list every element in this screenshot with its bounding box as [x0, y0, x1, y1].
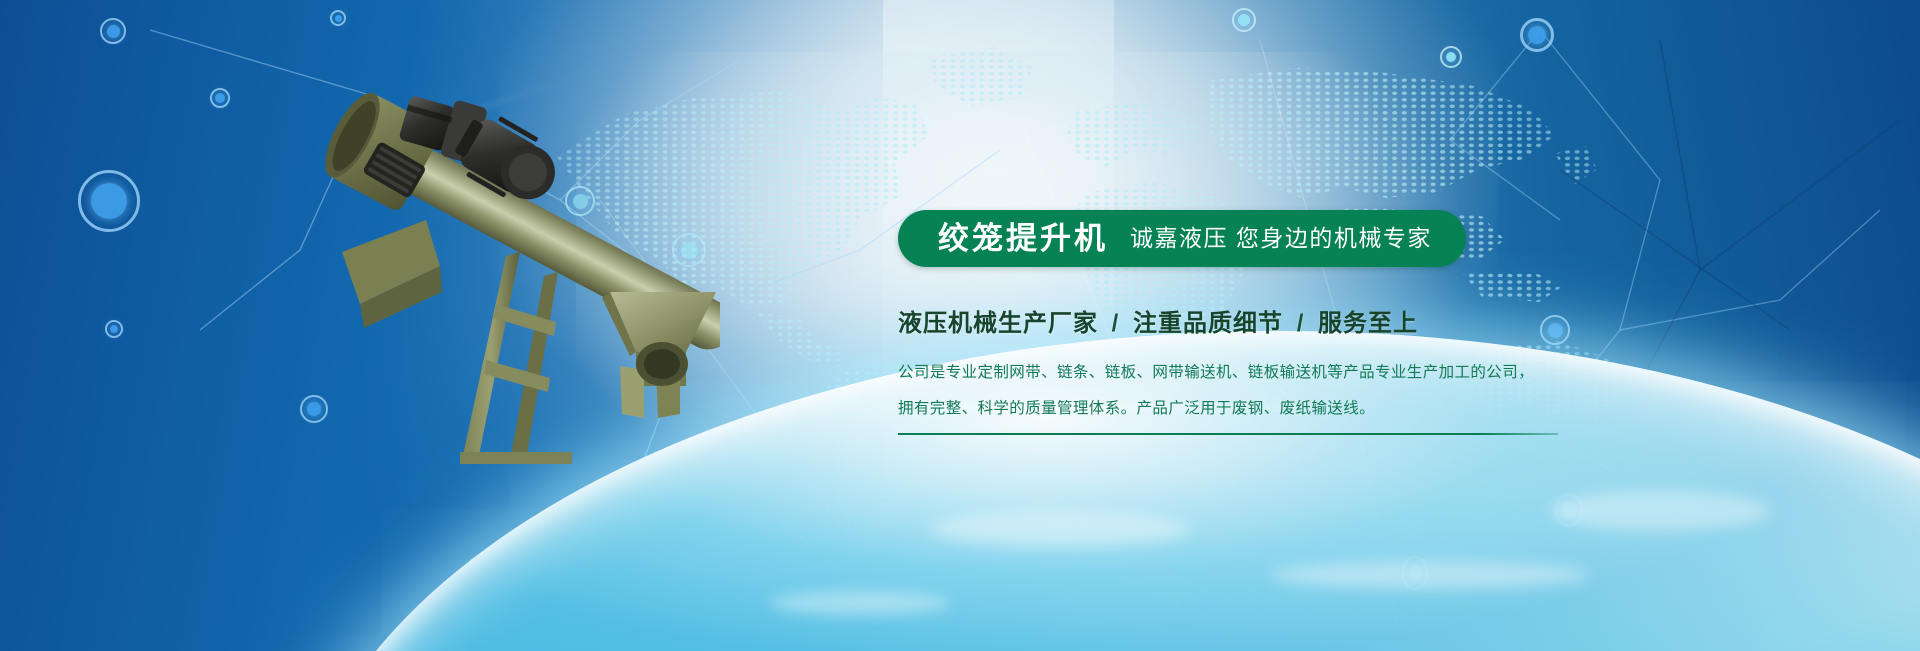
node-dot-3 [78, 170, 140, 232]
company-description: 公司是专业定制网带、链条、链板、网带输送机、链板输送机等产品专业生产加工的公司，… [898, 360, 1598, 421]
tagline-separator-2: / [1291, 310, 1311, 337]
node-dot-4 [105, 320, 123, 338]
tagline-separator-1: / [1106, 310, 1126, 337]
node-dot-1 [100, 18, 126, 44]
description-line-2: 拥有完整、科学的质量管理体系。产品广泛用于废钢、废纸输送线。 [898, 396, 1598, 422]
banner-content: 绞笼提升机 诚嘉液压 您身边的机械专家 液压机械生产厂家 / 注重品质细节 / … [898, 210, 1598, 435]
description-line-1: 公司是专业定制网带、链条、链板、网带输送机、链板输送机等产品专业生产加工的公司， [898, 360, 1598, 386]
product-title-pill: 绞笼提升机 诚嘉液压 您身边的机械专家 [898, 210, 1466, 267]
node-dot-8 [1440, 46, 1462, 68]
content-divider [898, 433, 1558, 435]
node-dot-9 [1520, 18, 1554, 52]
node-dot-2 [210, 88, 230, 108]
hero-banner: 绞笼提升机 诚嘉液压 您身边的机械专家 液压机械生产厂家 / 注重品质细节 / … [0, 0, 1920, 651]
node-dot-7 [1232, 8, 1256, 32]
tagline-item-2: 注重品质细节 [1133, 310, 1283, 337]
product-title: 绞笼提升机 [938, 223, 1108, 254]
product-image-screw-conveyor [300, 60, 720, 480]
tagline-item-1: 液压机械生产厂家 [898, 310, 1098, 337]
product-slogan: 诚嘉液压 您身边的机械专家 [1130, 227, 1432, 250]
tagline-item-3: 服务至上 [1318, 310, 1418, 337]
node-dot-6 [330, 10, 346, 26]
feature-tagline: 液压机械生产厂家 / 注重品质细节 / 服务至上 [898, 303, 1598, 338]
